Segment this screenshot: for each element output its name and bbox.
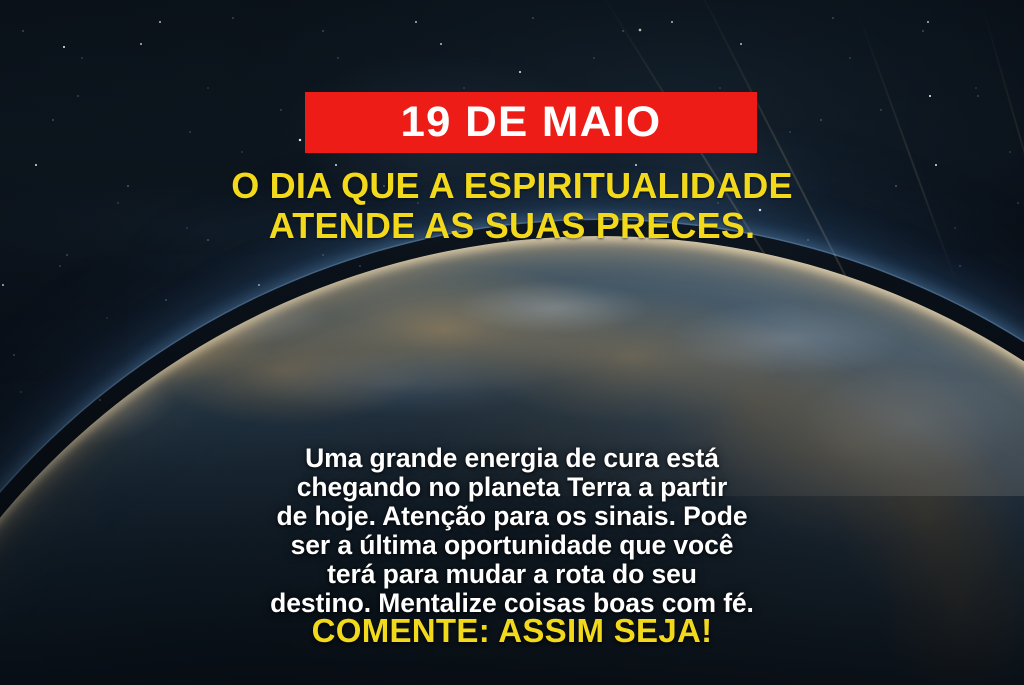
poster-canvas: 19 DE MAIO O DIA QUE A ESPIRITUALIDADE A…: [0, 0, 1024, 685]
body-copy: Uma grande energia de cura está chegando…: [0, 444, 1024, 618]
body-line-1: Uma grande energia de cura está: [30, 444, 994, 473]
body-line-2: chegando no planeta Terra a partir: [30, 473, 994, 502]
headline: O DIA QUE A ESPIRITUALIDADE ATENDE AS SU…: [0, 166, 1024, 246]
body-line-4: ser a última oportunidade que você: [30, 531, 994, 560]
headline-line-2: ATENDE AS SUAS PRECES.: [40, 206, 984, 246]
body-line-3: de hoje. Atenção para os sinais. Pode: [30, 502, 994, 531]
call-to-action: COMENTE: ASSIM SEJA!: [0, 612, 1024, 650]
date-banner: 19 DE MAIO: [305, 92, 757, 153]
body-line-5: terá para mudar a rota do seu: [30, 560, 994, 589]
date-banner-label: 19 DE MAIO: [401, 101, 662, 144]
headline-line-1: O DIA QUE A ESPIRITUALIDADE: [40, 166, 984, 206]
poster-content: 19 DE MAIO O DIA QUE A ESPIRITUALIDADE A…: [0, 0, 1024, 685]
